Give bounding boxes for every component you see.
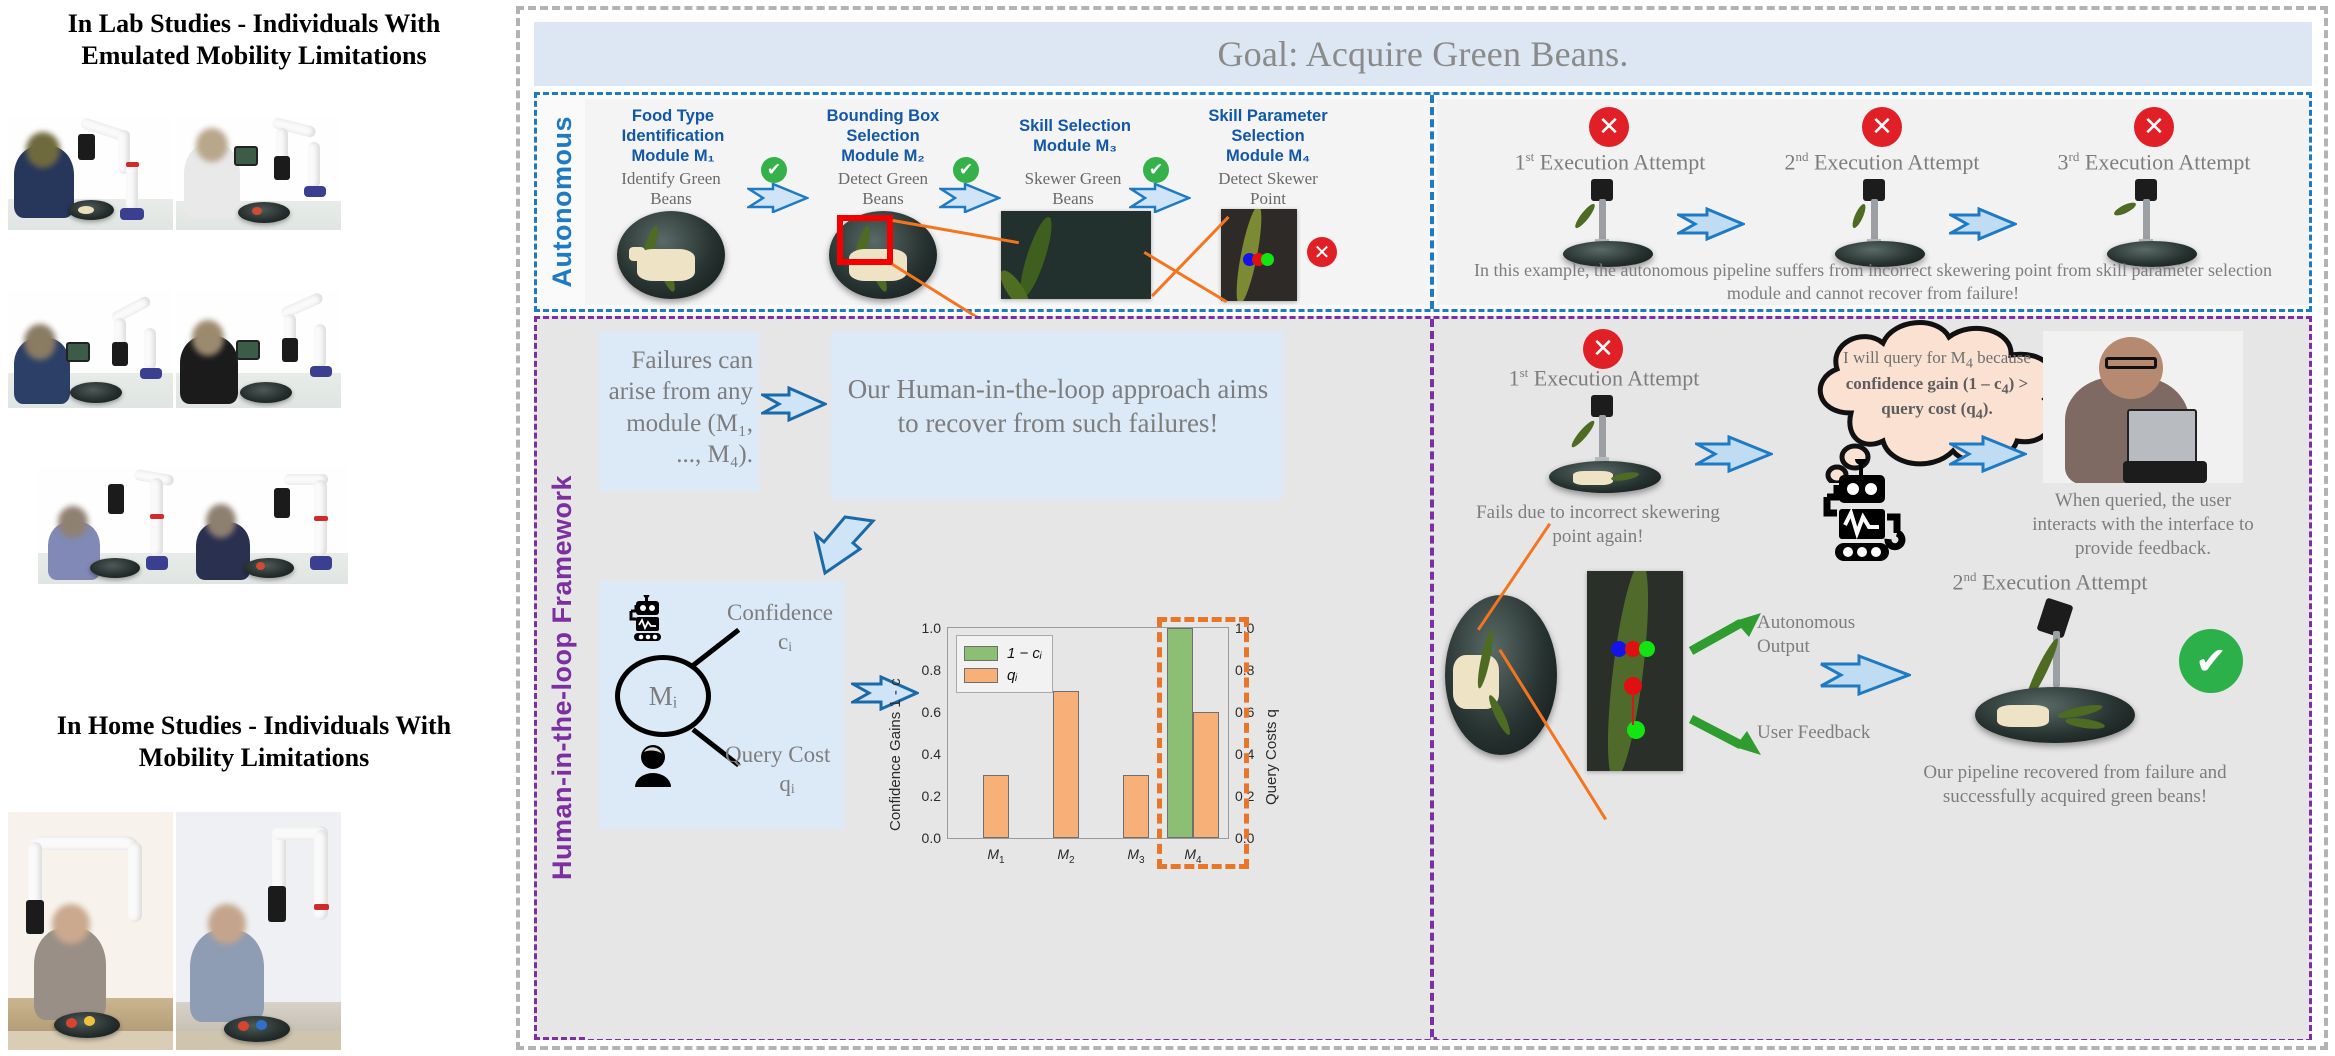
green-bean: [1600, 571, 1657, 771]
food-item: [84, 1016, 95, 1026]
robot-gripper: [108, 484, 124, 514]
chart-y2tick: 0.2: [1235, 788, 1254, 804]
confidence-label-line2: cᵢ: [727, 628, 843, 657]
arm-band: [126, 162, 139, 167]
thought-cloud-text: I will query for M4 because confidence g…: [1823, 347, 2051, 424]
food-item: [256, 1020, 267, 1030]
photo-face-blur: [24, 324, 56, 360]
annotation-line: [1151, 216, 1230, 297]
module-4-title-line1: Skill Parameter: [1187, 107, 1349, 127]
hitl-attempt-1-failure-icon: ✕: [1583, 329, 1623, 369]
studies-photo-column: In Lab Studies - Individuals With Emulat…: [0, 0, 508, 1056]
module-1-success-icon: ✔: [761, 157, 787, 183]
autonomous-output-green-dot: [1639, 641, 1655, 657]
robot-gripper: [78, 134, 95, 160]
robot-arm: [28, 836, 140, 850]
chart-y2tick: 0.0: [1235, 830, 1254, 846]
robot-gripper: [274, 156, 290, 180]
wheelchair-mount: [2123, 461, 2207, 483]
home-studies-title: In Home Studies - Individuals With Mobil…: [0, 710, 508, 773]
user-interface-photo: [2043, 331, 2243, 483]
module-4-title: Skill Parameter Selection Module M₄: [1187, 107, 1349, 166]
attempt-1-suffix: st: [1526, 149, 1535, 164]
autonomous-row-divider: [1430, 95, 1434, 309]
attempt-1-failure-icon: ✕: [1589, 107, 1629, 147]
attempt-arrow-2: [1949, 207, 2017, 241]
food-plate: [1975, 687, 2135, 743]
attempt-2-text: Execution Attempt: [1814, 149, 1980, 174]
green-bean: [1573, 202, 1598, 231]
user-interface-tablet: [236, 340, 260, 360]
attempt-3-failure-icon: ✕: [2134, 107, 2174, 147]
green-bean: [2112, 200, 2137, 218]
attempt-3-suffix: rd: [2069, 149, 2080, 164]
autonomous-output-arrow: [1689, 609, 1763, 657]
food-plate: [70, 382, 122, 403]
food-item: [256, 562, 265, 570]
robot-arm: [314, 324, 326, 368]
bar-q-M3: [1123, 775, 1149, 838]
hitl-arrow-2: [1949, 435, 2027, 473]
gripper-mount: [1591, 179, 1613, 201]
module-1-sub-line1: Identify Green: [591, 169, 751, 189]
chart-ytick: 0.6: [922, 704, 941, 720]
photo-face-blur: [196, 128, 228, 162]
pipeline-arrow-3: [1129, 183, 1191, 213]
green-bean: [1850, 202, 1868, 229]
attempt-arrow-1: [1677, 207, 1745, 241]
chart-y2tick: 1.0: [1235, 620, 1254, 636]
robot-arm: [308, 142, 320, 188]
chart-y2label: Query Costs q: [1263, 665, 1280, 805]
module-4-failure-icon: ✕: [1307, 237, 1337, 267]
module-4-title-line2: Selection: [1187, 127, 1349, 147]
bar-gain-M4: [1167, 628, 1193, 838]
approach-box-text: Our Human-in-the-loop approach aims to r…: [843, 373, 1273, 441]
hitl-attempt-2-text: Execution Attempt: [1982, 569, 2148, 594]
food-item: [66, 1018, 77, 1028]
gripper-mount: [1591, 395, 1613, 417]
lab-photo-2: [176, 118, 341, 230]
lab-photo-4: [176, 290, 341, 408]
query-cost-label-line2: qᵢ: [725, 770, 849, 799]
food-item: [238, 1021, 249, 1031]
home-photo-1: [8, 812, 173, 1050]
module-2-title: Bounding Box Selection Module M₂: [807, 107, 959, 166]
robot-arm: [126, 162, 138, 210]
module-1-title-line2: Identification: [597, 127, 749, 147]
skewer-point-inset: [1221, 209, 1297, 301]
rice-food: [1997, 705, 2049, 727]
user-interaction-caption: When queried, the user interacts with th…: [2023, 489, 2263, 560]
gripper-mount: [1863, 179, 1885, 201]
user-interface-tablet: [234, 146, 258, 166]
module-circle: Mᵢ: [615, 655, 711, 737]
fork-scene-3: [2091, 179, 2211, 263]
module-3-title: Skill Selection Module M₃: [995, 117, 1155, 157]
module-3-title-line2: Module M₃: [995, 137, 1155, 157]
attempt-3-text: Execution Attempt: [2085, 149, 2251, 174]
module-4-subtitle: Detect Skewer Point: [1187, 169, 1349, 208]
recovery-arrow: [1819, 653, 1911, 697]
robot-arm: [28, 842, 42, 908]
query-cost-label: Query Cost qᵢ: [725, 741, 849, 799]
legend-label-cost: qᵢ: [1007, 667, 1017, 684]
robot-gripper: [282, 338, 298, 362]
lab-photo-1: [8, 118, 173, 230]
confidence-label: Confidence cᵢ: [727, 599, 843, 657]
cloud-text-bold3: ).: [1983, 399, 1993, 418]
hitl-arrow-1: [1695, 435, 1773, 473]
attempt-3-ordinal: 3: [2058, 149, 2069, 174]
autonomous-attempts-panel: ✕ 1st Execution Attempt ✕ 2nd Execution …: [1437, 99, 2309, 305]
cloud-text-sub3: 4: [1976, 406, 1983, 422]
module-3-success-icon: ✔: [1143, 157, 1169, 183]
success-caption: Our pipeline recovered from failure and …: [1875, 761, 2275, 809]
robot-gripper: [268, 886, 286, 922]
food-plate: [1549, 461, 1661, 493]
hitl-attempt-1-ordinal: 1: [1509, 365, 1520, 390]
chart-y2tick: 0.4: [1235, 746, 1254, 762]
hitl-fork-scene-1: [1537, 395, 1677, 495]
module-1-title-line1: Food Type: [597, 107, 749, 127]
robot-arm: [128, 842, 142, 922]
hitl-concept-panel: Failures can arise from any module (M₁, …: [585, 323, 1430, 1039]
green-bean: [1569, 418, 1597, 449]
hitl-row-label: Human-in-the-loop Framework: [541, 319, 583, 1037]
fork-scene-2: [1819, 179, 1939, 263]
plate-image-1: [617, 211, 725, 299]
autonomous-row-label: Autonomous: [541, 95, 583, 309]
food-plate: [240, 382, 292, 403]
hitl-row-divider: [1430, 319, 1434, 1037]
chart-plot-area: 0.0 0.2 0.4 0.6 0.8 1.0 0.0 0.2 0.4 0.6 …: [947, 627, 1229, 839]
chart-ytick: 0.8: [922, 662, 941, 678]
rice-food: [637, 249, 695, 281]
chart-y2tick: 0.8: [1235, 662, 1254, 678]
user-feedback-label: User Feedback: [1757, 721, 1897, 745]
autonomous-row: Autonomous Food Type Identification Modu…: [534, 92, 2312, 312]
eyeglasses-icon: [2105, 357, 2157, 369]
bounding-box-overlay: [837, 215, 893, 265]
food-plate: [244, 558, 294, 578]
pipeline-arrow-1: [747, 183, 809, 213]
cloud-text-sub1: 4: [1966, 355, 1973, 371]
bar-q-M4: [1193, 712, 1219, 838]
module-4-title-line3: Module M₄: [1187, 147, 1349, 167]
fork-scene-1: [1547, 179, 1667, 263]
robot-icon: [627, 595, 671, 641]
chart-ytick: 1.0: [922, 620, 941, 636]
food-item: [78, 206, 94, 214]
lab-photo-3: [8, 290, 173, 408]
autonomous-row-label-text: Autonomous: [547, 116, 578, 287]
module-1-subtitle: Identify Green Beans: [591, 169, 751, 208]
module-2-title-line2: Selection: [807, 127, 959, 147]
chart-xtick: M2: [1057, 846, 1074, 866]
food-plate: [224, 1016, 290, 1042]
autonomous-output-label: Autonomous Output: [1757, 611, 1897, 659]
hitl-attempt-1-suffix: st: [1520, 365, 1529, 380]
robot-arm: [144, 328, 156, 370]
food-plate: [90, 558, 140, 578]
cloud-text-p2: because: [1973, 348, 2031, 367]
photo-face-blur: [192, 320, 224, 356]
success-icon: ✔: [2179, 629, 2243, 693]
bar-q-M1: [983, 775, 1009, 838]
attempt-1-ordinal: 1: [1515, 149, 1526, 174]
rice-food: [1573, 471, 1613, 485]
framework-figure-panel: Goal: Acquire Green Beans. Autonomous Fo…: [516, 6, 2328, 1050]
robot-gripper: [26, 900, 44, 934]
photo-face-blur: [206, 504, 236, 538]
module-1-sub-line2: Beans: [591, 189, 751, 209]
chart-ylabel: Confidence Gains 1 - c: [887, 631, 904, 831]
green-bean: [1611, 471, 1640, 483]
user-feedback-arrow: [1689, 709, 1763, 757]
user-feedback-green-dot: [1627, 721, 1645, 739]
legend-entry-cost: qᵢ: [964, 664, 1042, 686]
attempt-3-label: 3rd Execution Attempt: [2015, 149, 2293, 175]
chart-xtick: M4: [1184, 846, 1201, 866]
chart-ytick: 0.2: [922, 788, 941, 804]
cloud-text-bold1: confidence gain (1 – c: [1846, 374, 2002, 393]
autonomous-caption: In this example, the autonomous pipeline…: [1461, 259, 2285, 306]
attempt-2-failure-icon: ✕: [1862, 107, 1902, 147]
robot-agent-icon: [1815, 459, 1915, 563]
robot-base: [120, 208, 144, 220]
module-4-sub-line1: Detect Skewer: [1187, 169, 1349, 189]
green-bean: [2065, 716, 2106, 730]
chart-legend: 1 − cᵢ qᵢ: [956, 635, 1053, 693]
hitl-recovery-panel: ✕ 1st Execution Attempt Fails due to inc…: [1437, 323, 2309, 1039]
user-tablet: [2127, 409, 2197, 465]
robot-gripper: [112, 342, 128, 366]
robot-base: [140, 368, 162, 379]
hitl-attempt-2-ordinal: 2: [1952, 569, 1963, 594]
lab-studies-title: In Lab Studies - Individuals With Emulat…: [0, 8, 508, 71]
attempt-1-text: Execution Attempt: [1540, 149, 1706, 174]
robot-gripper: [274, 488, 290, 518]
photo-face-blur: [208, 904, 246, 944]
food-plate: [238, 202, 290, 223]
food-item: [252, 207, 262, 215]
confidence-query-chart: Confidence Gains 1 - c Query Costs q 0.0…: [885, 613, 1285, 883]
arm-band: [150, 514, 164, 519]
arm-band: [314, 516, 328, 521]
feedback-vector: [1632, 691, 1634, 725]
attempt-2-label: 2nd Execution Attempt: [1743, 149, 2021, 175]
photo-face-blur: [52, 904, 90, 944]
legend-swatch-cost: [964, 668, 998, 683]
module-2-title-line3: Module M₂: [807, 147, 959, 167]
success-fork-scene: [1961, 601, 2151, 751]
attempt-2-ordinal: 2: [1784, 149, 1795, 174]
bar-q-M2: [1053, 691, 1079, 838]
hitl-attempt-1-text: Execution Attempt: [1534, 365, 1700, 390]
zoom-inset-bean: [1001, 211, 1151, 299]
legend-entry-gain: 1 − cᵢ: [964, 642, 1042, 664]
module-3-title-line1: Skill Selection: [995, 117, 1155, 137]
robot-base: [310, 366, 332, 377]
autonomous-pipeline-panel: Food Type Identification Module M₁ Ident…: [585, 99, 1430, 305]
confidence-label-line1: Confidence: [727, 599, 843, 628]
photo-face-blur: [58, 506, 88, 538]
cloud-text-p1: I will query for M: [1843, 348, 1966, 367]
recovery-plate-image: [1445, 595, 1557, 755]
rice-food: [629, 247, 645, 261]
module-1-title: Food Type Identification Module M₁: [597, 107, 749, 166]
lab-photo-6: [188, 466, 348, 584]
chart-ytick: 0.0: [922, 830, 941, 846]
chart-xtick: M1: [987, 846, 1004, 866]
hitl-attempt-2-suffix: nd: [1963, 569, 1976, 584]
query-cost-label-line1: Query Cost: [725, 741, 849, 770]
attempt-1-label: 1st Execution Attempt: [1471, 149, 1749, 175]
arm-band: [314, 904, 329, 910]
green-bean: [1486, 693, 1513, 736]
hitl-attempt-1-caption: Fails due to incorrect skewering point a…: [1463, 501, 1733, 549]
skewer-point-feedback-inset: [1587, 571, 1683, 771]
module-4-sub-line2: Point: [1187, 189, 1349, 209]
gripper-mount: [2135, 179, 2157, 201]
hitl-row: Human-in-the-loop Framework Failures can…: [534, 316, 2312, 1040]
hitl-attempt-1-label: 1st Execution Attempt: [1461, 365, 1747, 391]
legend-swatch-gain: [964, 646, 998, 661]
fork-handle: [1599, 415, 1606, 463]
lab-photo-5: [38, 466, 198, 584]
module-2-success-icon: ✔: [953, 157, 979, 183]
goal-banner: Goal: Acquire Green Beans.: [534, 22, 2312, 86]
module-2-title-line1: Bounding Box: [807, 107, 959, 127]
failures-box-text: Failures can arise from any module (M₁, …: [607, 345, 753, 470]
photo-face-blur: [26, 132, 60, 168]
pipeline-arrow-2: [939, 183, 1001, 213]
cloud-text-sub2: 4: [2002, 381, 2009, 397]
home-photo-2: [176, 812, 341, 1050]
user-interface-tablet: [66, 342, 90, 362]
goal-text: Goal: Acquire Green Beans.: [1217, 33, 1628, 75]
robot-base: [146, 556, 168, 570]
robot-base: [310, 556, 332, 570]
user-icon: [631, 743, 675, 787]
robot-base: [304, 186, 326, 197]
hitl-attempt-2-label: 2nd Execution Attempt: [1907, 569, 2193, 595]
failures-to-approach-arrow: [761, 385, 827, 423]
hitl-row-label-text: Human-in-the-loop Framework: [547, 475, 578, 880]
chart-xtick: M3: [1127, 846, 1144, 866]
attempt-2-suffix: nd: [1795, 149, 1808, 164]
chart-ytick: 0.4: [922, 746, 941, 762]
chart-y2tick: 0.6: [1235, 704, 1254, 720]
legend-label-gain: 1 − cᵢ: [1007, 645, 1042, 662]
module-1-title-line3: Module M₁: [597, 147, 749, 167]
skewer-point-green-dot: [1261, 253, 1274, 266]
